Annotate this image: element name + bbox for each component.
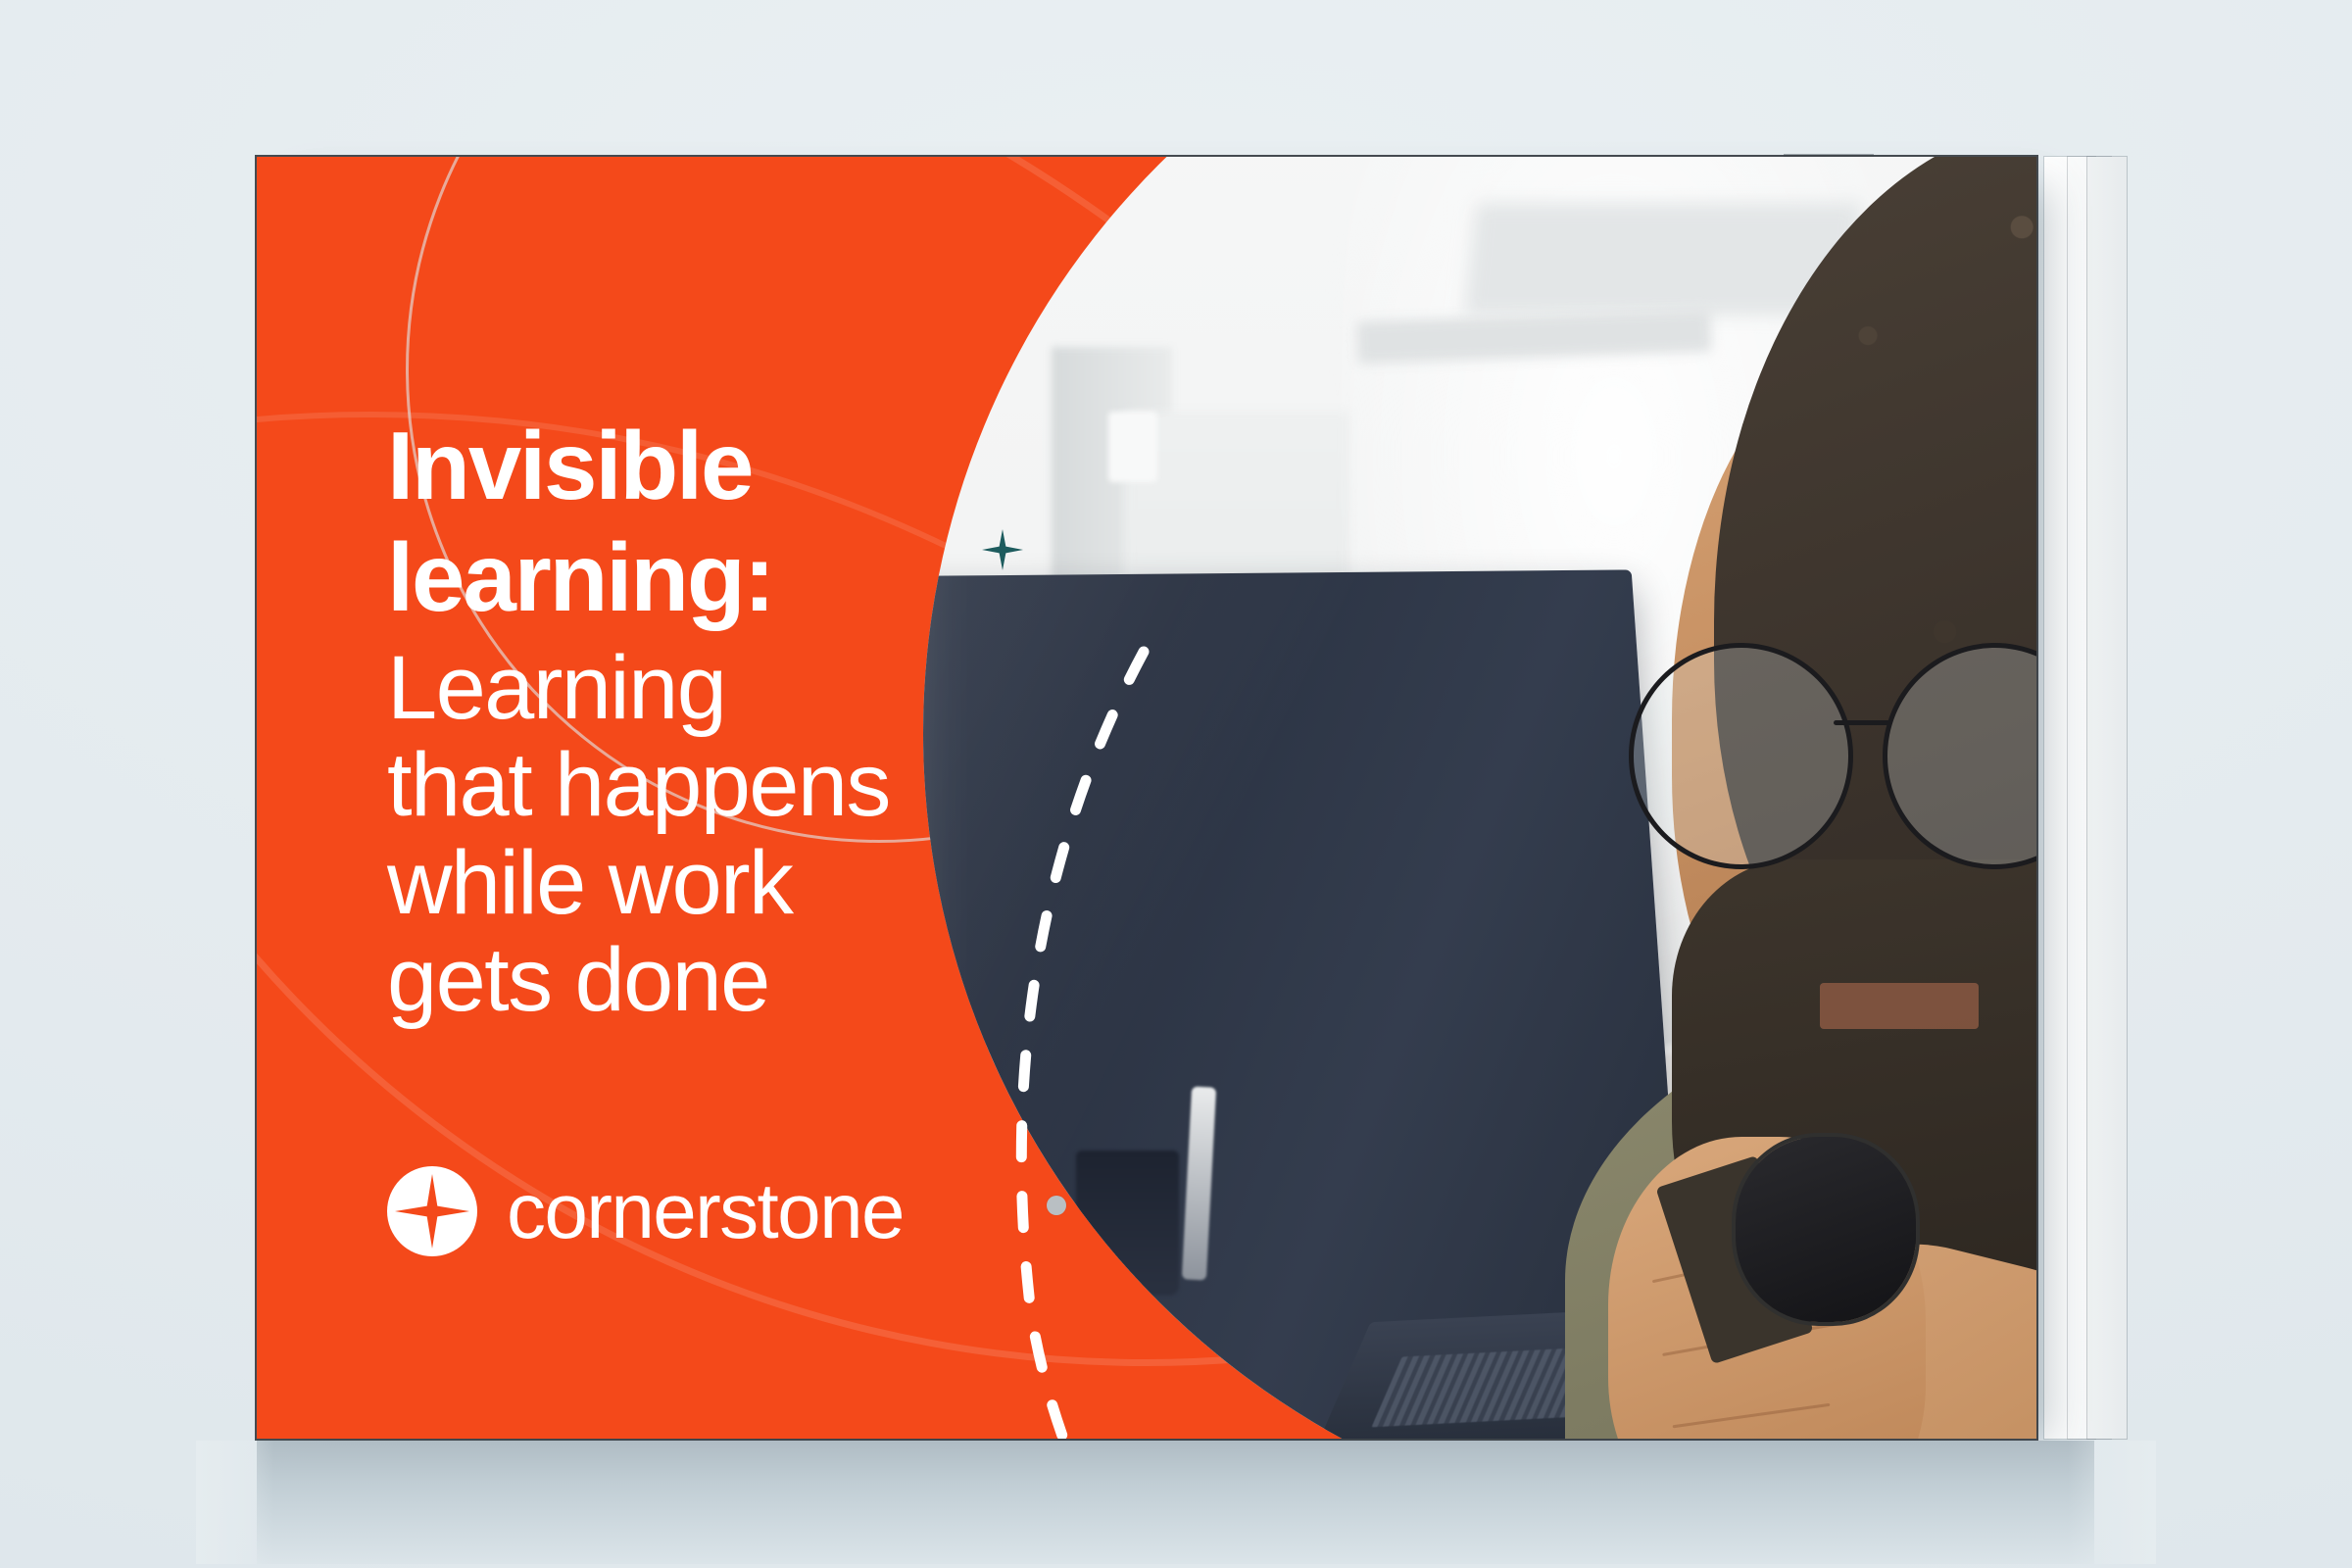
dashed-arc-node-dot-icon [1047,1196,1066,1215]
headline-light-line-3: while work [387,835,1151,932]
headline-bold-line-2: learning: [387,528,1151,628]
headline-light-line-2: that happens [387,737,1151,834]
cornerstone-star-mark-icon [387,1166,477,1256]
headline-light-line-4: gets done [387,932,1151,1029]
cornerstone-logo[interactable]: cornerstone [387,1166,904,1256]
ebook-cover[interactable]: Invisible learning: Learning that happen… [257,157,2036,1439]
cover-reflection-fade-right [2068,1441,2156,1564]
screenshot-stage: Invisible learning: Learning that happen… [0,0,2352,1568]
cover-headline: Invisible learning: Learning that happen… [387,416,1151,1029]
cover-reflection [257,1441,2094,1564]
headline-bold-line-1: Invisible [387,416,1151,516]
cover-reflection-fade-left [196,1441,274,1564]
cornerstone-wordmark: cornerstone [507,1172,904,1250]
page-edge-3 [2087,157,2127,1439]
headline-light-line-1: Learning [387,640,1151,737]
